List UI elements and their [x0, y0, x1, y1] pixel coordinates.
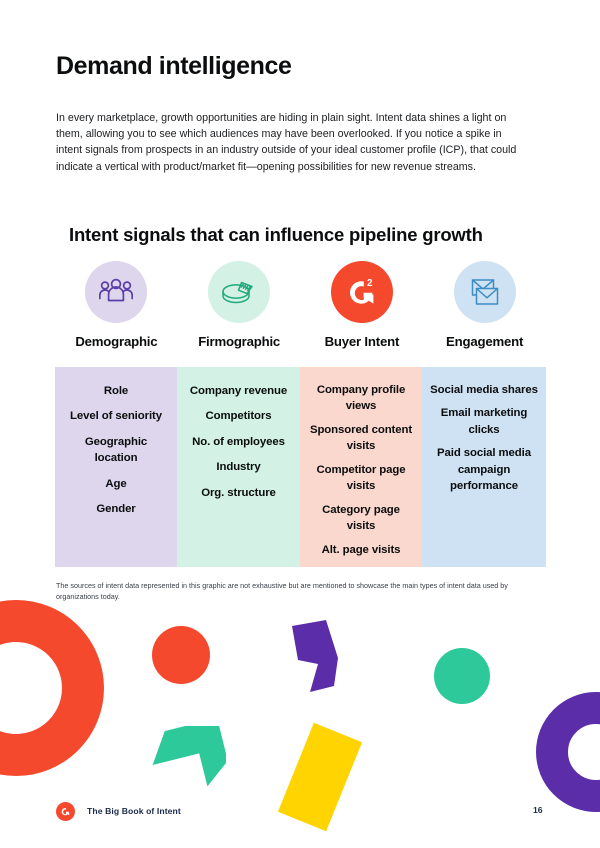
table-column-buyer-intent: Company profile views Sponsored content … — [300, 367, 422, 567]
table-cell: No. of employees — [190, 429, 287, 455]
intro-paragraph: In every marketplace, growth opportuniti… — [56, 110, 528, 175]
category-label-firmographic: Firmographic — [198, 334, 280, 349]
demographic-icon-badge — [85, 261, 147, 323]
pie-chart-3d-icon — [221, 276, 257, 308]
decor-purple-arrow — [292, 620, 358, 692]
decor-red-donut — [0, 600, 104, 776]
table-footnote: The sources of intent data represented i… — [56, 580, 540, 602]
footer-book-title: The Big Book of Intent — [87, 806, 181, 816]
table-cell: Company revenue — [188, 378, 289, 404]
envelopes-icon — [468, 276, 502, 308]
category-label-engagement: Engagement — [446, 334, 523, 349]
table-cell: Paid social media campaign performance — [428, 442, 540, 499]
table-cell: Alt. page visits — [320, 538, 403, 562]
document-page: Demand intelligence In every marketplace… — [0, 0, 600, 848]
page-title: Demand intelligence — [56, 52, 292, 81]
g2-logo-icon: 2 — [342, 272, 382, 312]
table-cell: Org. structure — [199, 480, 278, 506]
table-cell: Sponsored content visits — [306, 418, 416, 458]
category-demographic: Demographic — [55, 261, 178, 349]
table-cell: Level of seniority — [68, 404, 164, 430]
page-number: 16 — [533, 805, 543, 815]
table-column-firmographic: Company revenue Competitors No. of emplo… — [177, 367, 300, 567]
firmographic-icon-badge — [208, 261, 270, 323]
table-cell: Industry — [214, 455, 262, 481]
table-cell: Email marketing clicks — [428, 402, 540, 442]
decor-yellow-rectangle — [278, 723, 362, 831]
table-cell: Social media shares — [428, 378, 540, 402]
table-cell: Category page visits — [306, 498, 416, 538]
buyer-intent-icon-badge: 2 — [331, 261, 393, 323]
table-cell: Geographic location — [61, 429, 171, 471]
table-column-demographic: Role Level of seniority Geographic locat… — [55, 367, 177, 567]
category-label-demographic: Demographic — [75, 334, 157, 349]
footer-g2-logo-icon — [56, 802, 75, 821]
engagement-icon-badge — [454, 261, 516, 323]
table-cell: Role — [102, 378, 130, 404]
category-buyer-intent: 2 Buyer Intent — [301, 261, 424, 349]
table-column-engagement: Social media shares Email marketing clic… — [422, 367, 546, 567]
decor-teal-circle — [434, 648, 490, 704]
decor-green-arrow — [152, 726, 226, 790]
people-group-icon — [99, 277, 133, 307]
category-icon-row: Demographic Firmographic — [55, 261, 546, 349]
decor-purple-donut — [536, 692, 600, 812]
table-cell: Competitor page visits — [306, 458, 416, 498]
table-cell: Age — [103, 471, 128, 497]
category-label-buyer-intent: Buyer Intent — [325, 334, 400, 349]
decor-red-circle — [152, 626, 210, 684]
category-engagement: Engagement — [423, 261, 546, 349]
table-cell: Competitors — [204, 404, 274, 430]
graphic-title: Intent signals that can influence pipeli… — [69, 224, 541, 246]
table-cell: Gender — [94, 497, 137, 523]
intent-signals-table: Role Level of seniority Geographic locat… — [55, 367, 546, 567]
category-firmographic: Firmographic — [178, 261, 301, 349]
svg-text:2: 2 — [367, 278, 373, 289]
table-cell: Company profile views — [306, 378, 416, 418]
